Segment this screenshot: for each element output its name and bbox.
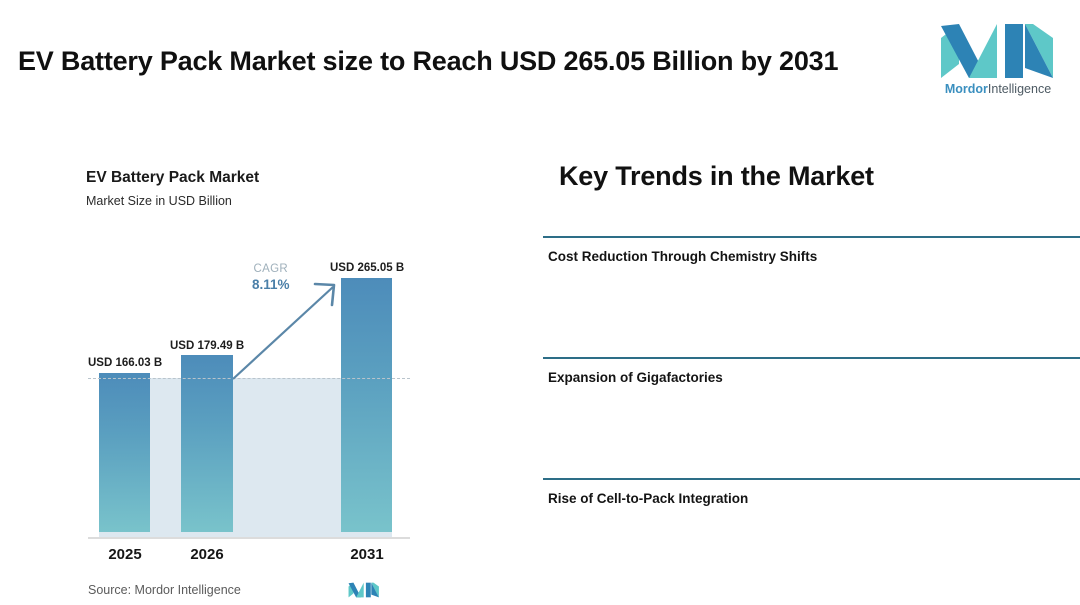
trend-item: Cost Reduction Through Chemistry Shifts	[543, 236, 1080, 264]
chart-source-row: Source: Mordor Intelligence	[88, 580, 418, 604]
bar-value-label-2031: USD 265.05 B	[330, 262, 404, 274]
x-axis-label-2026: 2026	[167, 546, 247, 563]
trend-label: Rise of Cell-to-Pack Integration	[548, 491, 1080, 506]
chart-panel: EV Battery Pack Market Market Size in US…	[0, 150, 530, 605]
brand-logo: MordorIntelligence	[930, 22, 1066, 100]
trend-item: Rise of Cell-to-Pack Integration	[543, 478, 1080, 506]
trend-divider	[543, 236, 1080, 238]
bar-2025	[99, 373, 150, 532]
key-trends-heading: Key Trends in the Market	[559, 161, 874, 192]
key-trends-panel: Key Trends in the Market Cost Reduction …	[543, 150, 1080, 605]
mordor-intelligence-logo-icon	[939, 22, 1057, 80]
page-title: EV Battery Pack Market size to Reach USD…	[18, 44, 898, 78]
x-axis-label-2025: 2025	[85, 546, 165, 563]
brand-name-light: Intelligence	[988, 82, 1051, 96]
chart-baseline	[88, 537, 410, 539]
bar-value-label-2025: USD 166.03 B	[88, 357, 162, 369]
trend-item: Expansion of Gigafactories	[543, 357, 1080, 385]
trend-divider	[543, 478, 1080, 480]
mordor-intelligence-mark-icon	[348, 580, 380, 600]
bar-chart-plot: USD 166.03 B USD 179.49 B USD 265.05 B C…	[0, 150, 530, 550]
slide-root: EV Battery Pack Market size to Reach USD…	[0, 0, 1080, 605]
trend-label: Cost Reduction Through Chemistry Shifts	[548, 249, 1080, 264]
brand-wordmark: MordorIntelligence	[930, 82, 1066, 97]
bar-2031	[341, 278, 392, 532]
trend-label: Expansion of Gigafactories	[548, 370, 1080, 385]
brand-name-bold: Mordor	[945, 82, 988, 96]
x-axis-label-2031: 2031	[327, 546, 407, 563]
trend-divider	[543, 357, 1080, 359]
growth-arrow-icon	[225, 275, 345, 385]
source-label: Source: Mordor Intelligence	[88, 583, 241, 597]
